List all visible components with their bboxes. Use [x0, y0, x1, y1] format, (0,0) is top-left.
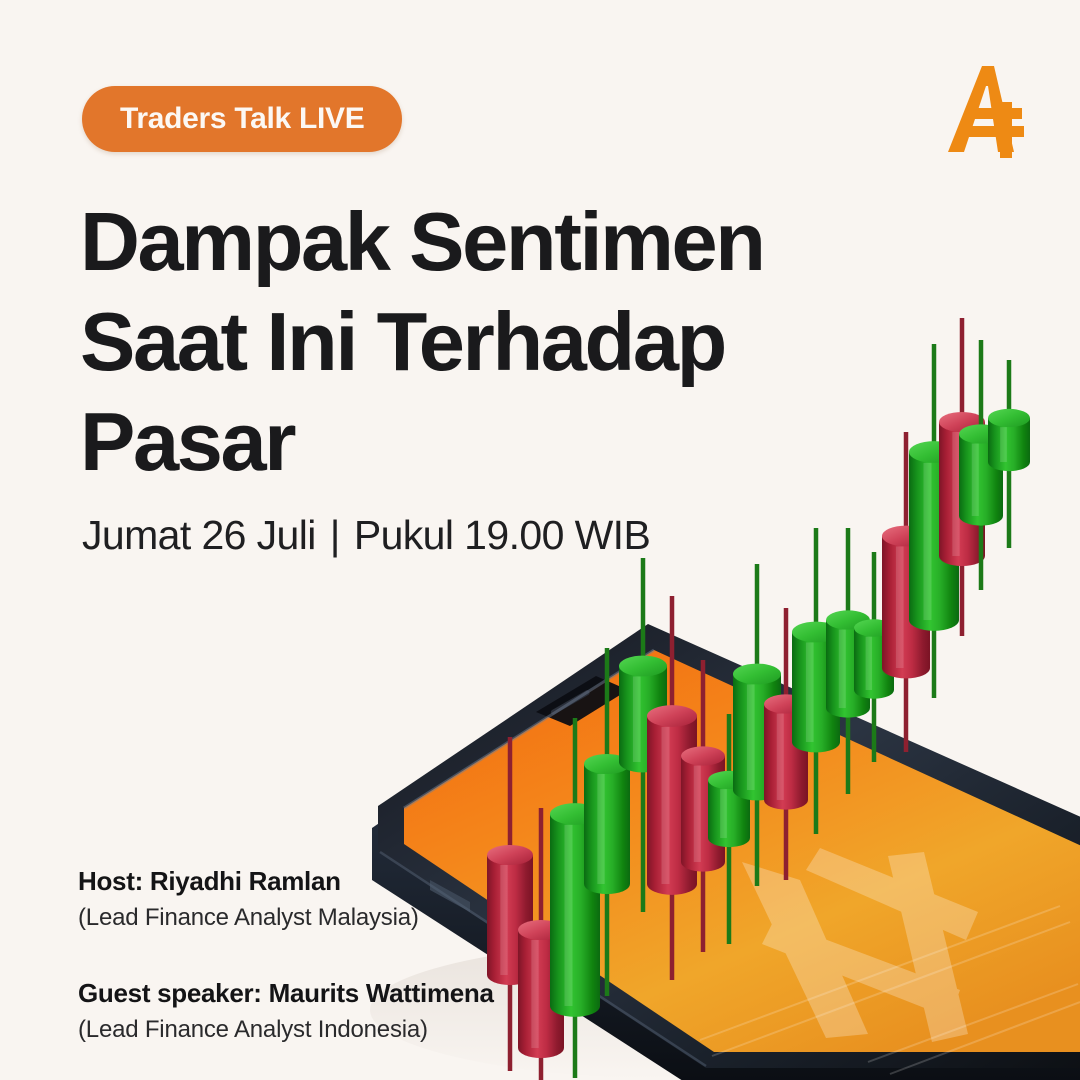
speaker-credits: Host: Riyadhi Ramlan (Lead Finance Analy… — [78, 866, 494, 1044]
credit-host-role: (Lead Finance Analyst Malaysia) — [78, 904, 494, 932]
credit-host: Host: Riyadhi Ramlan (Lead Finance Analy… — [78, 866, 494, 932]
credit-guest: Guest speaker: Maurits Wattimena (Lead F… — [78, 978, 494, 1044]
credit-host-name: Host: Riyadhi Ramlan — [78, 866, 494, 897]
credit-guest-name: Guest speaker: Maurits Wattimena — [78, 978, 494, 1009]
poster-canvas: Traders Talk LIVE Dampak Sentimen Saat I… — [0, 0, 1080, 1080]
credit-guest-role: (Lead Finance Analyst Indonesia) — [78, 1016, 494, 1044]
